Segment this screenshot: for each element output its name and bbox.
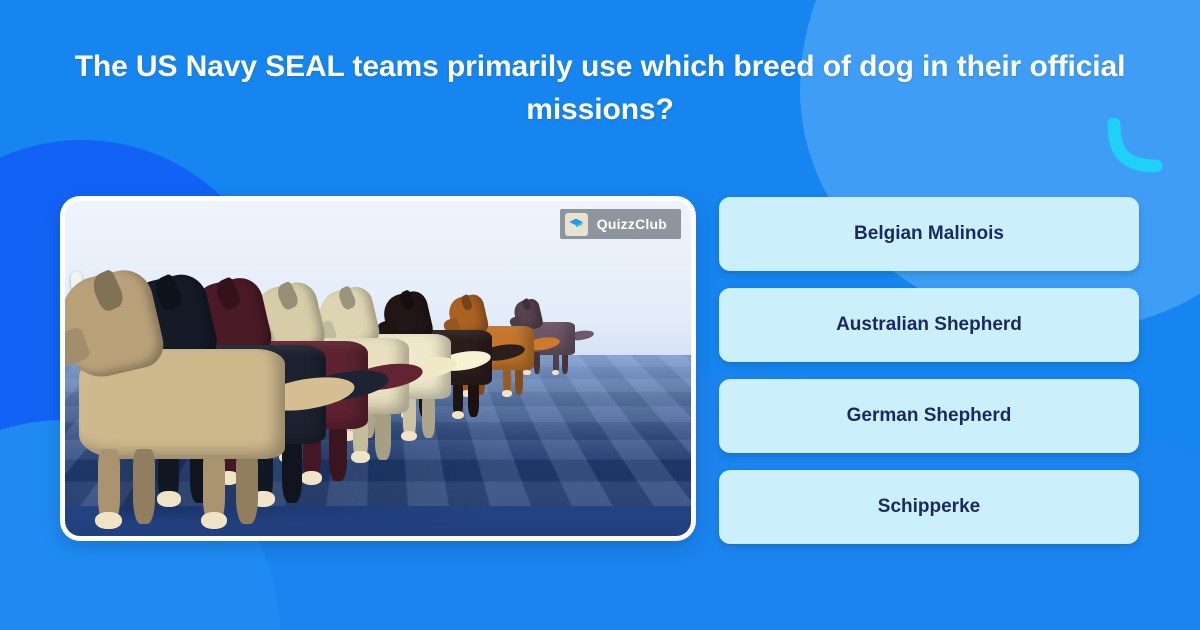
graduation-cap-icon: [565, 213, 588, 236]
question-image-card: QuizzClub: [60, 196, 696, 541]
dog-leg: [282, 435, 302, 502]
dog-leg: [133, 449, 156, 524]
answer-option-label: Australian Shepherd: [836, 314, 1022, 336]
answer-option-1[interactable]: Belgian Malinois: [719, 197, 1139, 271]
dog-paw: [201, 512, 228, 530]
dog-leg: [534, 352, 540, 374]
watermark-badge: QuizzClub: [560, 209, 681, 239]
dog-leg: [468, 380, 479, 417]
answer-option-2[interactable]: Australian Shepherd: [719, 288, 1139, 362]
dog-leg: [422, 393, 435, 438]
dog-leg: [236, 449, 259, 524]
answer-options-list: Belgian MalinoisAustralian ShepherdGerma…: [719, 197, 1139, 544]
answer-option-label: Belgian Malinois: [854, 223, 1004, 245]
question-title: The US Navy SEAL teams primarily use whi…: [45, 46, 1155, 131]
answer-option-label: Schipperke: [878, 496, 980, 518]
dog-leg: [375, 407, 391, 459]
dog-leg: [329, 421, 347, 481]
quiz-card: The US Navy SEAL teams primarily use whi…: [0, 0, 1200, 630]
dog-leg: [562, 352, 568, 374]
answer-option-label: German Shepherd: [847, 405, 1012, 427]
answer-option-4[interactable]: Schipperke: [719, 470, 1139, 544]
question-image: QuizzClub: [65, 201, 691, 536]
dog-tan-dog: [79, 274, 285, 524]
dog-paw: [95, 512, 122, 530]
watermark-brand-label: QuizzClub: [597, 216, 667, 232]
dog-leg: [515, 366, 524, 396]
answer-option-3[interactable]: German Shepherd: [719, 379, 1139, 453]
